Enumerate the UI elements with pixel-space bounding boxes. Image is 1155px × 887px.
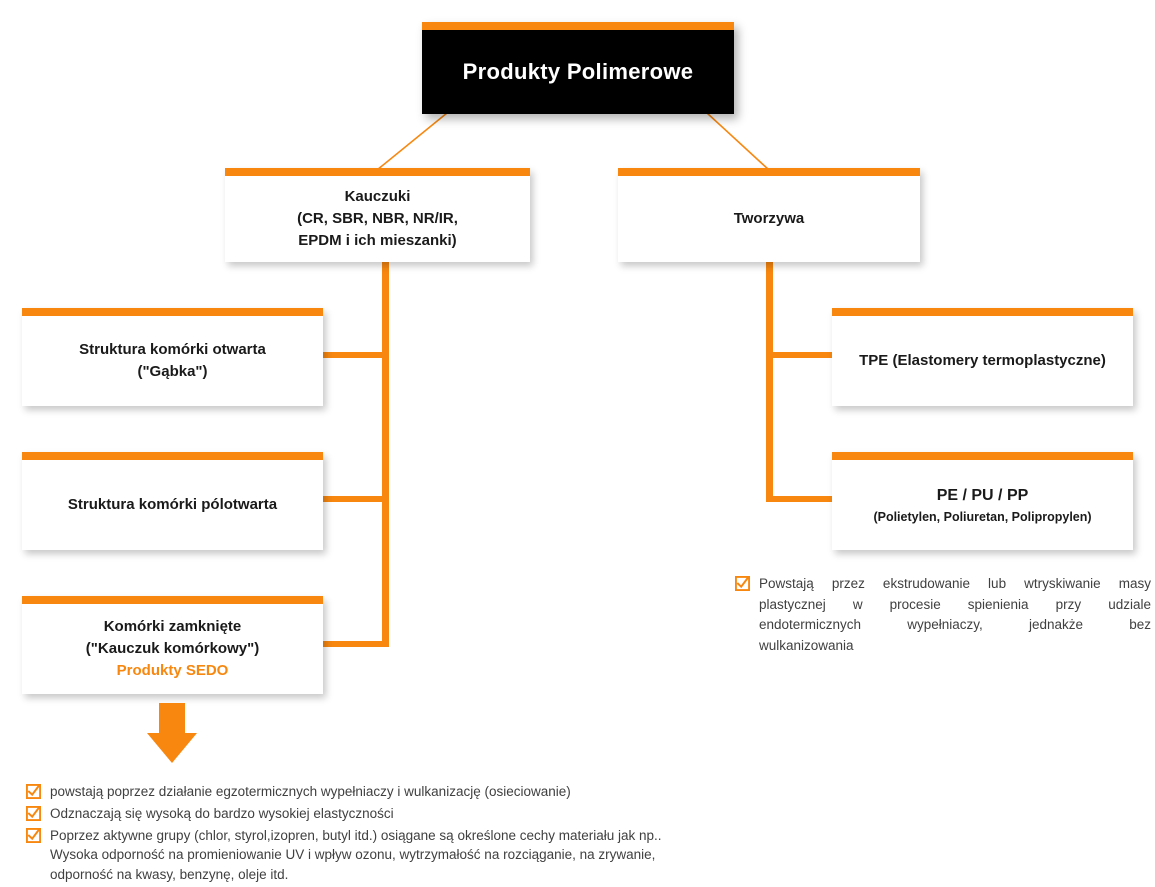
stub-tpe: [766, 352, 834, 358]
accent-bar: [22, 308, 323, 316]
accent-bar: [22, 452, 323, 460]
node-body: TPE (Elastomery termoplastyczne): [832, 316, 1133, 406]
stub-komorki-zamkniete: [322, 641, 386, 647]
note-line: Poprzez aktywne grupy (chlor, styrol,izo…: [50, 826, 662, 845]
node-line-1: Kauczuki: [345, 186, 411, 208]
note-line: powstają poprzez działanie egzotermiczny…: [50, 782, 571, 801]
down-arrow-icon: [146, 703, 198, 763]
connector-root-to-tworzywa: [707, 113, 769, 170]
node-line-2: ("Kauczuk komórkowy"): [86, 638, 259, 660]
note-text: Powstają przez ekstrudowanie lub wtryski…: [759, 574, 1151, 656]
node-line-2: ("Gąbka"): [137, 361, 207, 383]
trunk-kauczuki: [382, 262, 389, 647]
note-line: Powstają przez ekstrudowanie lub wtryski…: [759, 574, 1151, 595]
node-body: Produkty Polimerowe: [422, 30, 734, 114]
node-highlight-produkty-sedo: Produkty SEDO: [117, 660, 229, 682]
stub-pe-pu-pp: [766, 496, 834, 502]
node-body: Kauczuki (CR, SBR, NBR, NR/IR, EPDM i ic…: [225, 176, 530, 262]
stub-struktura-polotwarta: [322, 496, 386, 502]
note-line: Wysoka odporność na promieniowanie UV i …: [50, 845, 662, 864]
note-line: wulkanizowania: [759, 636, 1151, 657]
notes-right: Powstają przez ekstrudowanie lub wtryski…: [735, 574, 1155, 659]
connector-root-to-kauczuki: [377, 113, 447, 170]
node-body: PE / PU / PP (Polietylen, Poliuretan, Po…: [832, 460, 1133, 550]
note-item: powstają poprzez działanie egzotermiczny…: [26, 782, 786, 801]
checkbox-checked-icon: [735, 576, 750, 591]
node-struktura-komorki-polotwarta[interactable]: Struktura komórki pólotwarta: [22, 452, 323, 550]
accent-bar: [422, 22, 734, 30]
node-struktura-komorki-otwarta[interactable]: Struktura komórki otwarta ("Gąbka"): [22, 308, 323, 406]
node-body: Komórki zamknięte ("Kauczuk komórkowy") …: [22, 604, 323, 694]
note-item: Poprzez aktywne grupy (chlor, styrol,izo…: [26, 826, 786, 883]
node-line-1: Struktura komórki pólotwarta: [68, 494, 277, 516]
accent-bar: [225, 168, 530, 176]
trunk-tworzywa: [766, 262, 773, 502]
accent-bar: [22, 596, 323, 604]
note-item: Powstają przez ekstrudowanie lub wtryski…: [735, 574, 1155, 656]
note-item: Odznaczają się wysoką do bardzo wysokiej…: [26, 804, 786, 823]
node-title: Produkty Polimerowe: [463, 56, 694, 88]
note-text: Poprzez aktywne grupy (chlor, styrol,izo…: [50, 826, 662, 883]
accent-bar: [618, 168, 920, 176]
note-line: plastycznej w procesie spienienia przy u…: [759, 595, 1151, 616]
note-text: Odznaczają się wysoką do bardzo wysokiej…: [50, 804, 394, 823]
node-produkty-polimerowe[interactable]: Produkty Polimerowe: [422, 22, 734, 114]
checkbox-checked-icon: [26, 784, 41, 799]
node-subtitle: (Polietylen, Poliuretan, Polipropylen): [873, 508, 1091, 526]
arrow-head: [147, 733, 197, 763]
note-line: Odznaczają się wysoką do bardzo wysokiej…: [50, 804, 394, 823]
node-pe-pu-pp[interactable]: PE / PU / PP (Polietylen, Poliuretan, Po…: [832, 452, 1133, 550]
notes-left: powstają poprzez działanie egzotermiczny…: [26, 782, 786, 887]
note-line: odporność na kwasy, benzynę, oleje itd.: [50, 865, 662, 884]
checkbox-checked-icon: [26, 828, 41, 843]
node-body: Struktura komórki otwarta ("Gąbka"): [22, 316, 323, 406]
node-komorki-zamkniete[interactable]: Komórki zamknięte ("Kauczuk komórkowy") …: [22, 596, 323, 694]
checkbox-checked-icon: [26, 806, 41, 821]
node-tworzywa[interactable]: Tworzywa: [618, 168, 920, 262]
stub-struktura-otwarta: [322, 352, 386, 358]
diagram-canvas: Produkty Polimerowe Kauczuki (CR, SBR, N…: [0, 0, 1155, 882]
node-body: Struktura komórki pólotwarta: [22, 460, 323, 550]
node-line-2: (CR, SBR, NBR, NR/IR,: [297, 208, 458, 230]
node-tpe[interactable]: TPE (Elastomery termoplastyczne): [832, 308, 1133, 406]
accent-bar: [832, 452, 1133, 460]
node-line-1: PE / PU / PP: [937, 484, 1029, 507]
node-line-1: TPE (Elastomery termoplastyczne): [859, 350, 1106, 372]
arrow-shaft: [159, 703, 185, 735]
node-line-1: Tworzywa: [734, 208, 805, 230]
node-line-1: Komórki zamknięte: [104, 616, 242, 638]
note-line: endotermicznych wypełniaczy, jednakże be…: [759, 615, 1151, 636]
node-kauczuki[interactable]: Kauczuki (CR, SBR, NBR, NR/IR, EPDM i ic…: [225, 168, 530, 262]
node-body: Tworzywa: [618, 176, 920, 262]
node-line-1: Struktura komórki otwarta: [79, 339, 266, 361]
note-text: powstają poprzez działanie egzotermiczny…: [50, 782, 571, 801]
accent-bar: [832, 308, 1133, 316]
node-line-3: EPDM i ich mieszanki): [298, 230, 456, 252]
